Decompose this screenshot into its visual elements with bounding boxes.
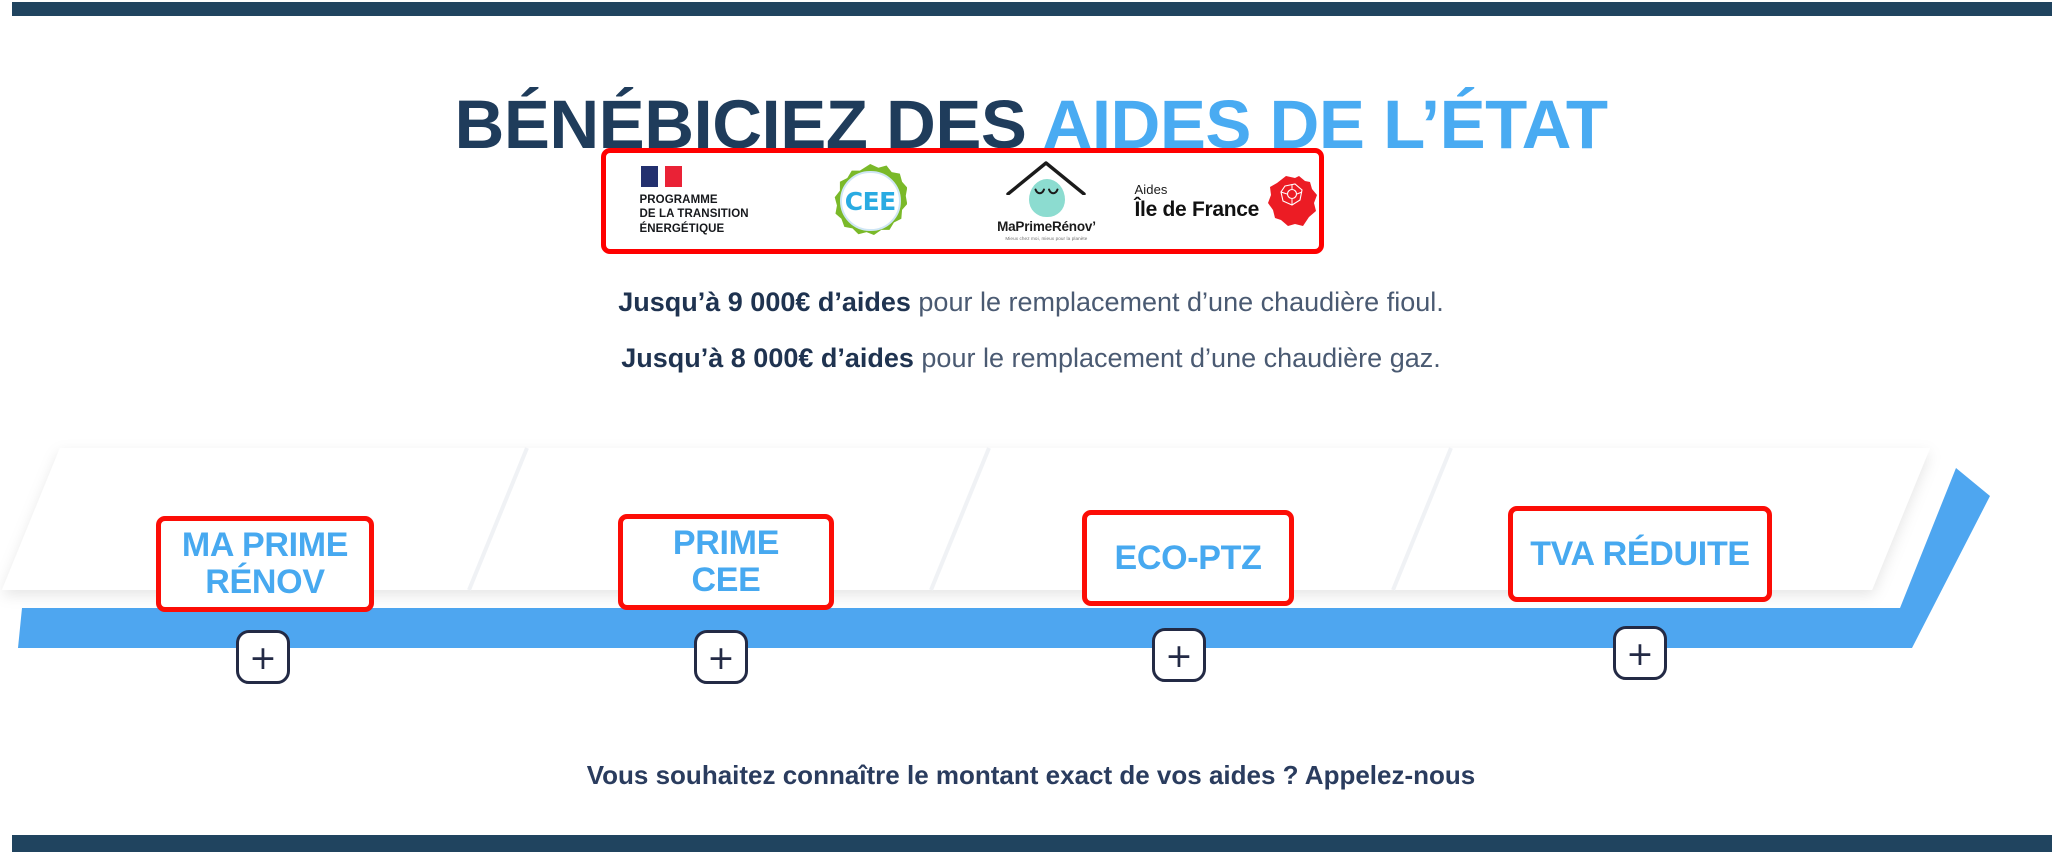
- top-accent-bar: [12, 2, 2052, 16]
- aid-1-line-1: MA PRIME: [182, 526, 348, 564]
- aids-ribbon: MA PRIME RÉNOV + PRIME CEE + ECO-PTZ + T…: [0, 430, 2062, 660]
- plus-icon: +: [249, 641, 277, 674]
- plus-icon: +: [707, 641, 735, 674]
- house-blob-icon: [1005, 161, 1087, 217]
- aid-3-line-1: ECO-PTZ: [1114, 540, 1261, 577]
- logo-aides-ile-de-france: Aides Île de France: [1135, 153, 1320, 249]
- aid-4-line-1: TVA RÉDUITE: [1530, 536, 1750, 573]
- pte-line-3: ÉNERGÉTIQUE: [640, 222, 749, 236]
- cee-label: CEE: [833, 164, 907, 238]
- aid-label-eco-ptz[interactable]: ECO-PTZ: [1082, 510, 1294, 606]
- pte-line-2: DE LA TRANSITION: [640, 207, 749, 221]
- partner-logo-strip: PROGRAMME DE LA TRANSITION ÉNERGÉTIQUE C…: [601, 148, 1324, 254]
- plus-icon: +: [1626, 637, 1654, 670]
- aid-label-tva-reduite[interactable]: TVA RÉDUITE: [1508, 506, 1772, 602]
- contact-cta-text: Vous souhaitez connaître le montant exac…: [0, 760, 2062, 791]
- bottom-accent-bar: [12, 835, 2052, 852]
- french-flag-icon: [641, 166, 682, 187]
- aid-expand-button-tva-reduite[interactable]: +: [1613, 626, 1667, 680]
- aid-expand-button-prime-cee[interactable]: +: [694, 630, 748, 684]
- aid-2-line-1: PRIME: [673, 524, 779, 562]
- aid-label-prime-cee[interactable]: PRIME CEE: [618, 514, 834, 610]
- cee-badge-icon: CEE: [833, 164, 907, 238]
- pte-line-1: PROGRAMME: [640, 193, 749, 207]
- plus-icon: +: [1165, 639, 1193, 672]
- subtitle-1-amount: Jusqu’à 9 000€ d’aides: [618, 287, 911, 317]
- subtitle-2-rest: pour le remplacement d’une chaudière gaz…: [914, 343, 1441, 373]
- subtitle-line-2: Jusqu’à 8 000€ d’aides pour le remplacem…: [0, 343, 2062, 374]
- logo-cee: CEE: [782, 153, 958, 249]
- subtitle-line-1: Jusqu’à 9 000€ d’aides pour le remplacem…: [0, 287, 2062, 318]
- aid-1-line-2: RÉNOV: [205, 563, 324, 601]
- subtitle-2-amount: Jusqu’à 8 000€ d’aides: [621, 343, 914, 373]
- idf-small-label: Aides: [1135, 183, 1168, 196]
- aid-expand-button-ma-prime-renov[interactable]: +: [236, 630, 290, 684]
- ile-de-france-map-icon: [1265, 174, 1319, 228]
- logo-programme-transition-energetique: PROGRAMME DE LA TRANSITION ÉNERGÉTIQUE: [606, 153, 782, 249]
- maprimerenov-label: MaPrimeRénov’: [997, 219, 1096, 234]
- idf-big-label: Île de France: [1135, 199, 1260, 220]
- aid-expand-button-eco-ptz[interactable]: +: [1152, 628, 1206, 682]
- logo-maprimerenov: MaPrimeRénov’ Mieux chez moi, mieux pour…: [958, 153, 1134, 249]
- subtitle-1-rest: pour le remplacement d’une chaudière fio…: [911, 287, 1444, 317]
- aid-2-line-2: CEE: [691, 561, 760, 599]
- aid-label-ma-prime-renov[interactable]: MA PRIME RÉNOV: [156, 516, 374, 612]
- maprimerenov-tagline: Mieux chez moi, mieux pour la planète: [1005, 236, 1087, 241]
